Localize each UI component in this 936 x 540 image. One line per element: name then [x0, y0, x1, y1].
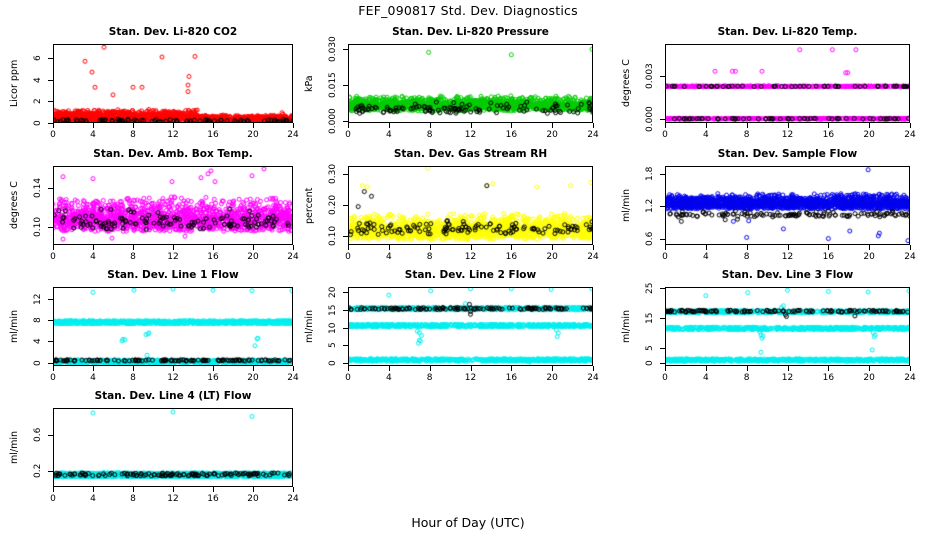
x-tick-label: 12	[153, 494, 193, 504]
x-tick-mark	[173, 487, 174, 492]
x-tick-label: 20	[233, 494, 273, 504]
x-tick-mark	[53, 487, 54, 492]
x-tick-mark	[133, 487, 134, 492]
y-tick-label: 0.2	[31, 451, 45, 491]
panel-line-4-lt-flow: Stan. Dev. Line 4 (LT) Flowml/min0.20.60…	[0, 0, 936, 540]
x-tick-label: 8	[113, 494, 153, 504]
x-tick-mark	[213, 487, 214, 492]
x-tick-label: 24	[273, 494, 313, 504]
x-tick-mark	[293, 487, 294, 492]
y-tick-label: 0.6	[31, 415, 45, 455]
y-tick-mark	[48, 435, 53, 436]
x-tick-label: 4	[73, 494, 113, 504]
x-axis-label: Hour of Day (UTC)	[0, 515, 936, 530]
x-tick-mark	[93, 487, 94, 492]
panel-title-line-4-lt-flow: Stan. Dev. Line 4 (LT) Flow	[0, 390, 353, 402]
x-tick-label: 0	[33, 494, 73, 504]
scatter-canvas-line-4-lt-flow	[54, 409, 292, 486]
y-axis-label-line-4-lt-flow: ml/min	[9, 408, 20, 487]
x-tick-mark	[253, 487, 254, 492]
y-tick-mark	[48, 471, 53, 472]
x-tick-label: 16	[193, 494, 233, 504]
